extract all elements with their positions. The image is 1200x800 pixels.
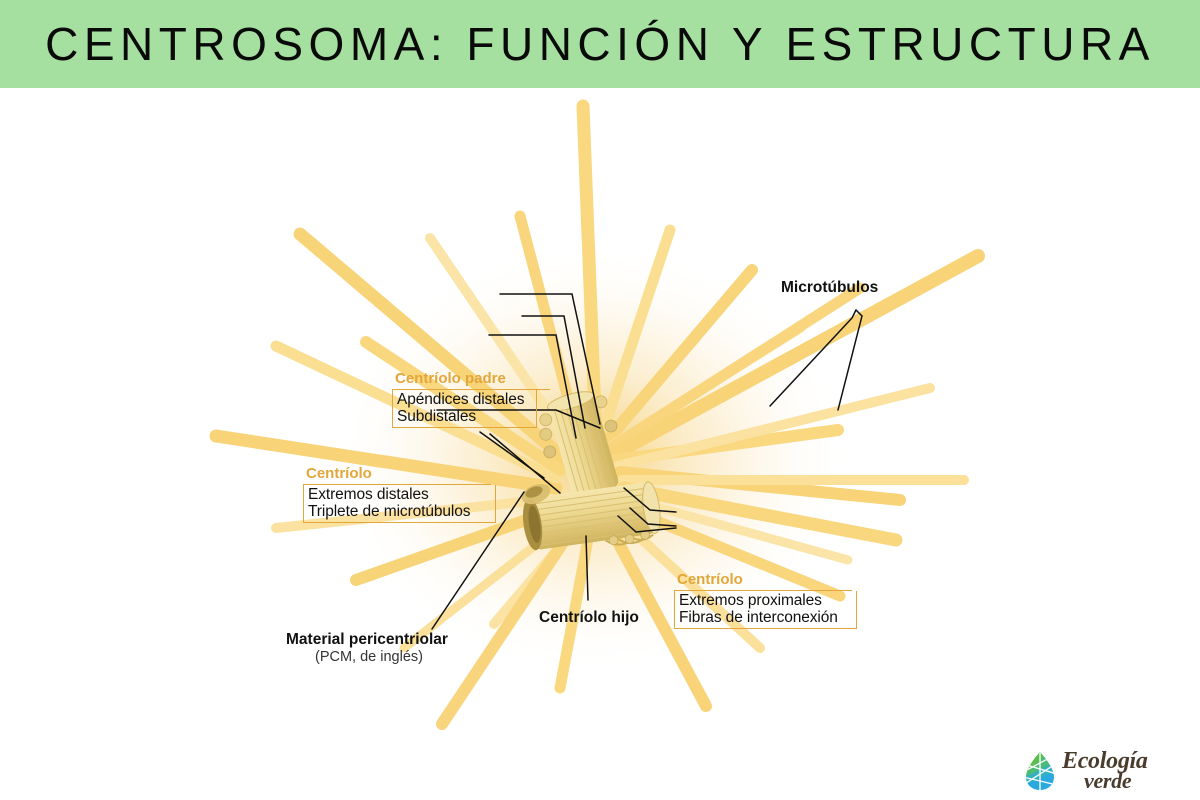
brand-wordmark: Ecología verde [1062,752,1148,790]
brand-word-verde: verde [1062,772,1148,790]
centrosome-figure: Centríolo padre Apéndices distales Subdi… [0,88,1200,800]
label-pericentriolar-material: Material pericentriolar (PCM, de inglés) [286,631,448,665]
leaf-icon [1025,751,1055,791]
callout-centriole-left-title: Centríolo [303,466,491,485]
callout-centriole-right-box: Extremos proximales Fibras de interconex… [674,591,857,629]
callout-parent-centriole-box: Apéndices distales Subdistales [392,390,537,428]
label-pcm-main: Material pericentriolar [286,631,448,648]
callout-centriole-right: Centríolo Extremos proximales Fibras de … [674,572,857,629]
page-title: Centrosoma: función y estructura [45,21,1155,67]
brand-logo[interactable]: Ecología verde [1025,748,1193,794]
callout-line-subdistal: Subdistales [397,408,531,425]
title-banner: Centrosoma: función y estructura [0,0,1200,88]
callout-centriole-right-title: Centríolo [674,572,852,591]
centrosome-illustration [0,88,1200,800]
callout-line-distal-appendages: Apéndices distales [397,391,531,408]
callout-parent-centriole-title: Centríolo padre [392,371,550,390]
callout-line-distal-ends: Extremos distales [308,486,490,503]
callout-line-microtubule-triplet: Triplete de microtúbulos [308,503,490,520]
label-daughter-centriole: Centríolo hijo [539,609,639,627]
callout-centriole-left-box: Extremos distales Triplete de microtúbul… [303,485,496,523]
callout-line-proximal-ends: Extremos proximales [679,592,851,609]
callout-parent-centriole: Centríolo padre Apéndices distales Subdi… [392,371,550,428]
label-pcm-sub: (PCM, de inglés) [286,649,448,666]
callout-line-interconnection-fibres: Fibras de interconexión [679,609,851,626]
callout-centriole-left: Centríolo Extremos distales Triplete de … [303,466,496,523]
label-microtubules: Microtúbulos [781,279,878,297]
